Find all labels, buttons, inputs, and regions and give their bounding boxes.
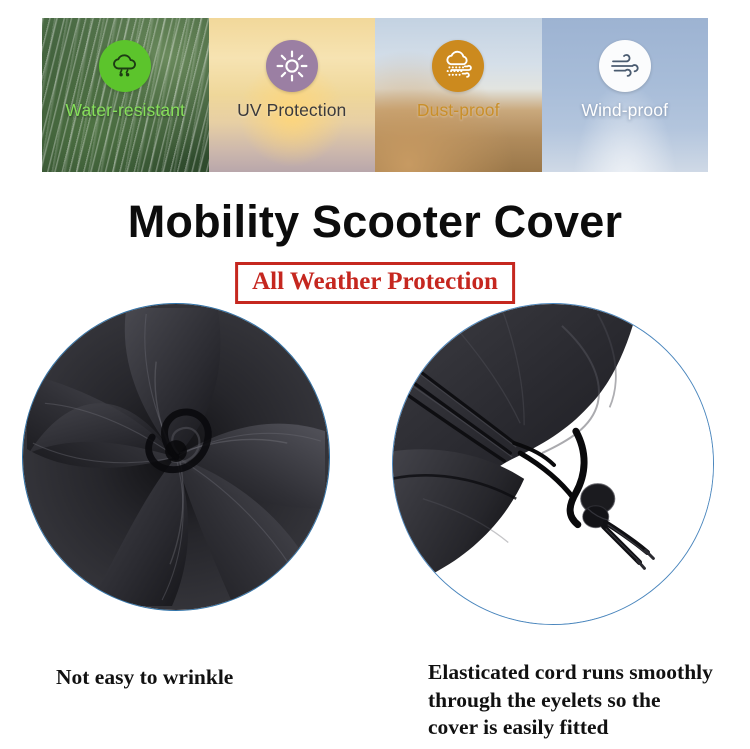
feature-label-uv-protection: UV Protection [237,100,346,121]
sun-icon [266,40,318,92]
dust-cloud-icon [432,40,484,92]
feature-strip: Water-resistant UV Protection [42,18,708,172]
feature-label-wind-proof: Wind-proof [581,100,668,121]
feature-label-water-resistant: Water-resistant [66,100,186,121]
wind-icon [599,40,651,92]
feature-panel-dust-proof: Dust-proof [375,18,542,172]
caption-cord-toggle: Elasticated cord runs smoothly through t… [428,659,728,742]
feature-panel-wind-proof: Wind-proof [542,18,709,172]
caption-line: Elasticated cord runs smoothly [428,659,728,687]
product-photo-cord-toggle [392,303,714,625]
feature-label-dust-proof: Dust-proof [417,100,500,121]
feature-panel-uv-protection: UV Protection [209,18,376,172]
page-title: Mobility Scooter Cover [0,196,750,248]
product-photo-fabric-swirl [22,303,330,611]
caption-line: through the eyelets so the [428,687,728,715]
feature-panel-water-resistant: Water-resistant [42,18,209,172]
caption-fabric-swirl: Not easy to wrinkle [56,664,233,692]
rain-cloud-icon [99,40,151,92]
caption-line: cover is easily fitted [428,714,728,742]
all-weather-protection-badge: All Weather Protection [235,262,515,304]
